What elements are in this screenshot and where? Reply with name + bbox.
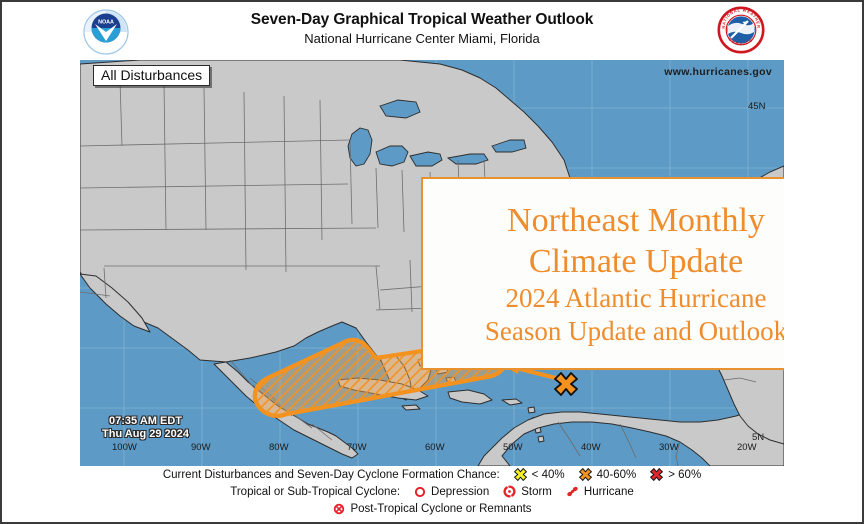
noaa-logo: NOAA	[80, 8, 132, 56]
overlay-line-1: Northeast Monthly	[507, 200, 765, 241]
legend-chance-lt40: < 40%	[532, 469, 565, 481]
legend: Current Disturbances and Seven-Day Cyclo…	[80, 466, 784, 520]
website-url: www.hurricanes.gov	[664, 66, 772, 78]
x-marker-yellow-icon	[514, 468, 527, 481]
legend-chance-label: Current Disturbances and Seven-Day Cyclo…	[163, 469, 500, 481]
legend-post-tropical-label: Post-Tropical Cyclone or Remnants	[350, 503, 531, 515]
storm-spiral-icon	[503, 485, 516, 498]
page-title: Seven-Day Graphical Tropical Weather Out…	[172, 10, 672, 29]
legend-row-cyclones: Tropical or Sub-Tropical Cyclone: Depres…	[80, 483, 784, 500]
svg-text:NOAA: NOAA	[98, 20, 114, 26]
legend-row-post-tropical: Post-Tropical Cyclone or Remnants	[80, 500, 784, 517]
page-subtitle: National Hurricane Center Miami, Florida	[172, 30, 672, 48]
legend-row-chances: Current Disturbances and Seven-Day Cyclo…	[80, 466, 784, 483]
timestamp-block: 07:35 AM EDT Thu Aug 29 2024	[102, 415, 189, 441]
legend-chance-40-60: 40-60%	[597, 469, 637, 481]
title-block: Seven-Day Graphical Tropical Weather Out…	[172, 10, 672, 48]
overlay-title-card: Northeast Monthly Climate Update 2024 At…	[421, 177, 784, 370]
nws-logo: NATIONAL WEATHER SERVICE	[714, 4, 768, 56]
map-canvas[interactable]: 100W 90W 80W 70W 60W 50W 40W 30W 20W 45N…	[80, 60, 784, 466]
depression-circle-icon	[414, 486, 426, 498]
header: NOAA Seven-Day Graphical Tropical Weathe…	[2, 2, 862, 60]
timestamp-time: 07:35 AM EDT	[102, 415, 189, 428]
overlay-line-4: Season Update and Outlook	[485, 315, 784, 348]
tropical-weather-outlook-graphic: NOAA Seven-Day Graphical Tropical Weathe…	[0, 0, 864, 524]
legend-depression: Depression	[431, 486, 489, 498]
x-marker-red-icon	[650, 468, 663, 481]
overlay-line-3: 2024 Atlantic Hurricane	[506, 282, 767, 315]
legend-hurricane: Hurricane	[584, 486, 634, 498]
legend-storm: Storm	[521, 486, 552, 498]
legend-chance-gt60: > 60%	[668, 469, 701, 481]
post-tropical-icon	[333, 503, 345, 515]
legend-cyclone-label: Tropical or Sub-Tropical Cyclone:	[230, 486, 400, 498]
all-disturbances-label[interactable]: All Disturbances	[93, 65, 210, 86]
timestamp-date: Thu Aug 29 2024	[102, 428, 189, 441]
overlay-line-2: Climate Update	[529, 241, 743, 282]
hurricane-spiral-icon	[566, 485, 579, 498]
x-marker-orange-icon	[579, 468, 592, 481]
